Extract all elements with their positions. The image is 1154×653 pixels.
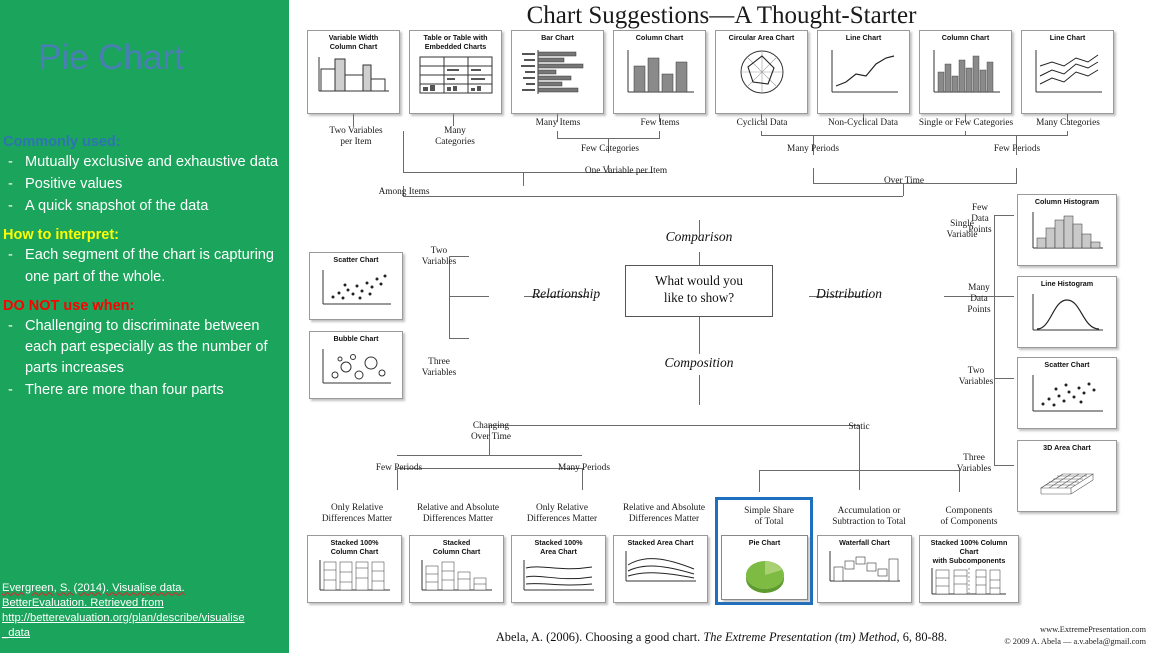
card-stacked-column-chart[interactable]: StackedColumn Chart — [409, 535, 504, 603]
label-components-of-components: Componentsof Components — [921, 506, 1017, 528]
label-many-categories-right: Many Categories — [1021, 118, 1115, 129]
card-stacked-100-column-with-subcomponents[interactable]: Stacked 100% Column Chartwith Subcompone… — [919, 535, 1019, 603]
card-line-chart-non-cyclical[interactable]: Line Chart — [817, 30, 910, 114]
thumbnail-bar-chart-icon — [512, 44, 603, 100]
label-two-variables: TwoVariables — [409, 246, 469, 268]
footer-citation-italic: The Extreme Presentation (tm) Method — [703, 630, 896, 644]
card-caption: Bubble Chart — [310, 332, 402, 345]
card-variable-width-column-chart[interactable]: Variable WidthColumn Chart — [307, 30, 400, 114]
card-table-embedded-charts[interactable]: Table or Table withEmbedded Charts — [409, 30, 502, 114]
label-relative-absolute-1: Relative and AbsoluteDifferences Matter — [402, 503, 514, 525]
label-single-or-few-categories: Single or Few Categories — [909, 118, 1023, 129]
card-bubble-chart[interactable]: Bubble Chart — [309, 331, 403, 399]
citation-line-3: http://betterevaluation.org/plan/describ… — [2, 612, 245, 624]
card-caption: Line Chart — [818, 31, 909, 44]
card-caption: Variable WidthColumn Chart — [308, 31, 399, 53]
node-comparison: Comparison — [649, 229, 749, 245]
label-two-variables-per-item: Two Variablesper Item — [311, 126, 401, 148]
card-caption: Line Chart — [1022, 31, 1113, 44]
card-caption: Waterfall Chart — [818, 536, 911, 549]
thumbnail-line-chart-icon — [818, 44, 909, 100]
card-caption: Stacked 100%Area Chart — [512, 536, 605, 558]
card-caption: Scatter Chart — [310, 253, 402, 266]
thumbnail-variable-width-column-icon — [308, 53, 399, 99]
card-circular-area-chart[interactable]: Circular Area Chart — [715, 30, 808, 114]
card-caption: Stacked Area Chart — [614, 536, 707, 549]
footer-citation-pre: Abela, A. (2006). Choosing a good chart. — [496, 630, 704, 644]
card-stacked-100-column-chart[interactable]: Stacked 100%Column Chart — [307, 535, 402, 603]
thumbnail-stacked-100-area-icon — [512, 558, 605, 596]
citation-line-2: BetterEvaluation. Retrieved from — [2, 597, 164, 609]
label-one-variable-per-item: One Variable per Item — [561, 166, 691, 177]
card-caption: Stacked 100% Column Chartwith Subcompone… — [920, 536, 1018, 566]
list-item: Positive values — [3, 174, 289, 195]
bullet-list: Each segment of the chart is capturing o… — [3, 245, 289, 287]
thumbnail-column-chart-icon — [614, 44, 705, 100]
thumbnail-scatter-icon — [310, 266, 402, 310]
left-green-panel: Pie Chart Commonly used: Mutually exclus… — [0, 0, 289, 653]
chart-suggestions-diagram: Chart Suggestions—A Thought-Starter — [289, 0, 1154, 653]
card-caption: Column Histogram — [1018, 195, 1116, 208]
thumbnail-scatter-icon-2 — [1018, 371, 1116, 419]
card-caption: Scatter Chart — [1018, 358, 1116, 371]
slide-body: Commonly used: Mutually exclusive and ex… — [0, 134, 289, 411]
card-caption: Pie Chart — [722, 536, 807, 549]
thumbnail-stacked-100-column-icon — [308, 558, 401, 596]
brand-url: www.ExtremePresentation.com — [1004, 624, 1146, 635]
label-many-periods: Many Periods — [544, 463, 624, 474]
label-many-periods-top: Many Periods — [773, 144, 853, 155]
card-column-histogram[interactable]: Column Histogram — [1017, 194, 1117, 266]
label-few-categories: Few Categories — [564, 144, 656, 155]
label-two-variables-right: TwoVariables — [947, 366, 1005, 388]
label-three-variables: ThreeVariables — [409, 357, 469, 379]
label-only-relative-1: Only RelativeDifferences Matter — [307, 503, 407, 525]
card-caption: Column Chart — [920, 31, 1011, 44]
brand-copyright: © 2009 A. Abela — a.v.abela@gmail.com — [1004, 636, 1146, 647]
thumbnail-line-histogram-icon — [1018, 290, 1116, 338]
label-changing-over-time: ChangingOver Time — [459, 421, 523, 443]
center-question-line2: like to show? — [664, 290, 734, 305]
brand-footer: www.ExtremePresentation.com © 2009 A. Ab… — [1004, 624, 1146, 647]
thumbnail-circular-area-icon — [716, 44, 807, 100]
thumbnail-column-chart-icon-2 — [920, 44, 1011, 100]
label-over-time: Over Time — [871, 176, 937, 187]
label-single-variable: SingleVariable — [935, 219, 989, 241]
page-title: Pie Chart — [38, 38, 184, 78]
card-waterfall-chart[interactable]: Waterfall Chart — [817, 535, 912, 603]
list-item: Each segment of the chart is capturing o… — [3, 245, 289, 287]
citation-line-1: Evergreen, S. (2014). Visualise data. — [2, 582, 185, 594]
thumbnail-column-histogram-icon — [1018, 208, 1116, 256]
label-few-periods: Few Periods — [361, 463, 437, 474]
label-many-categories-left: ManyCategories — [415, 126, 495, 148]
node-relationship: Relationship — [516, 286, 616, 302]
label-only-relative-2: Only RelativeDifferences Matter — [511, 503, 613, 525]
thumbnail-waterfall-icon — [818, 549, 911, 587]
list-item: A quick snapshot of the data — [3, 196, 289, 217]
section-commonly-used: Commonly used: Mutually exclusive and ex… — [0, 134, 289, 217]
card-stacked-area-chart[interactable]: Stacked Area Chart — [613, 535, 708, 603]
label-non-cyclical-data: Non-Cyclical Data — [811, 118, 915, 129]
card-pie-chart[interactable]: Pie Chart — [721, 535, 808, 600]
label-among-items: Among Items — [361, 187, 447, 198]
thumbnail-pie-chart-icon — [722, 549, 807, 595]
footer-citation-post: , 6, 80-88. — [897, 630, 948, 644]
thumbnail-stacked-area-icon — [614, 549, 707, 587]
card-bar-chart[interactable]: Bar Chart — [511, 30, 604, 114]
card-scatter-chart-two-variables[interactable]: Scatter Chart — [309, 252, 403, 320]
card-caption: Circular Area Chart — [716, 31, 807, 44]
label-relative-absolute-2: Relative and AbsoluteDifferences Matter — [607, 503, 721, 525]
card-column-chart-few-items[interactable]: Column Chart — [613, 30, 706, 114]
source-citation: Evergreen, S. (2014). Visualise data. Be… — [2, 581, 287, 641]
list-item: There are more than four parts — [3, 380, 289, 401]
label-few-periods-top: Few Periods — [979, 144, 1055, 155]
label-many-data-points: ManyDataPoints — [953, 283, 1005, 316]
card-line-chart-many-categories[interactable]: Line Chart — [1021, 30, 1114, 114]
center-question-box: What would you like to show? — [625, 265, 773, 317]
thumbnail-table-icon — [410, 53, 501, 99]
thumbnail-stacked-subcomponents-icon — [920, 566, 1018, 600]
section-heading: How to interpret: — [3, 227, 289, 243]
bullet-list: Challenging to discriminate between each… — [3, 316, 289, 402]
label-static: Static — [834, 422, 884, 433]
label-cyclical-data: Cyclical Data — [713, 118, 811, 129]
label-few-items: Few Items — [619, 118, 701, 129]
thumbnail-3d-area-icon — [1018, 454, 1116, 502]
section-do-not-use: DO NOT use when: Challenging to discrimi… — [0, 298, 289, 402]
card-scatter-chart-two-variables-distribution[interactable]: Scatter Chart — [1017, 357, 1117, 429]
section-heading: Commonly used: — [3, 134, 289, 150]
card-stacked-100-area-chart[interactable]: Stacked 100%Area Chart — [511, 535, 606, 603]
card-caption: StackedColumn Chart — [410, 536, 503, 558]
list-item: Mutually exclusive and exhaustive data — [3, 152, 289, 173]
label-three-variables-right: ThreeVariables — [943, 453, 1005, 475]
card-caption: 3D Area Chart — [1018, 441, 1116, 454]
thumbnail-bubble-icon — [310, 345, 402, 389]
bullet-list: Mutually exclusive and exhaustive data P… — [3, 152, 289, 217]
thumbnail-multi-line-icon — [1022, 44, 1113, 100]
list-item: Challenging to discriminate between each… — [3, 316, 289, 379]
thumbnail-stacked-column-icon — [410, 558, 503, 596]
citation-line-4: _data — [2, 627, 30, 639]
card-column-chart-many-periods[interactable]: Column Chart — [919, 30, 1012, 114]
diagram-title: Chart Suggestions—A Thought-Starter — [289, 0, 1154, 30]
card-caption: Bar Chart — [512, 31, 603, 44]
node-composition: Composition — [649, 355, 749, 371]
card-caption: Table or Table withEmbedded Charts — [410, 31, 501, 53]
card-caption: Stacked 100%Column Chart — [308, 536, 401, 558]
center-question-line1: What would you — [655, 273, 743, 288]
label-many-items: Many Items — [517, 118, 599, 129]
node-distribution: Distribution — [797, 286, 901, 302]
card-caption: Line Histogram — [1018, 277, 1116, 290]
section-how-to-interpret: How to interpret: Each segment of the ch… — [0, 227, 289, 287]
card-caption: Column Chart — [614, 31, 705, 44]
card-line-histogram[interactable]: Line Histogram — [1017, 276, 1117, 348]
card-3d-area-chart[interactable]: 3D Area Chart — [1017, 440, 1117, 512]
section-heading: DO NOT use when: — [3, 298, 289, 314]
label-accumulation-subtraction: Accumulation orSubtraction to Total — [813, 506, 925, 528]
